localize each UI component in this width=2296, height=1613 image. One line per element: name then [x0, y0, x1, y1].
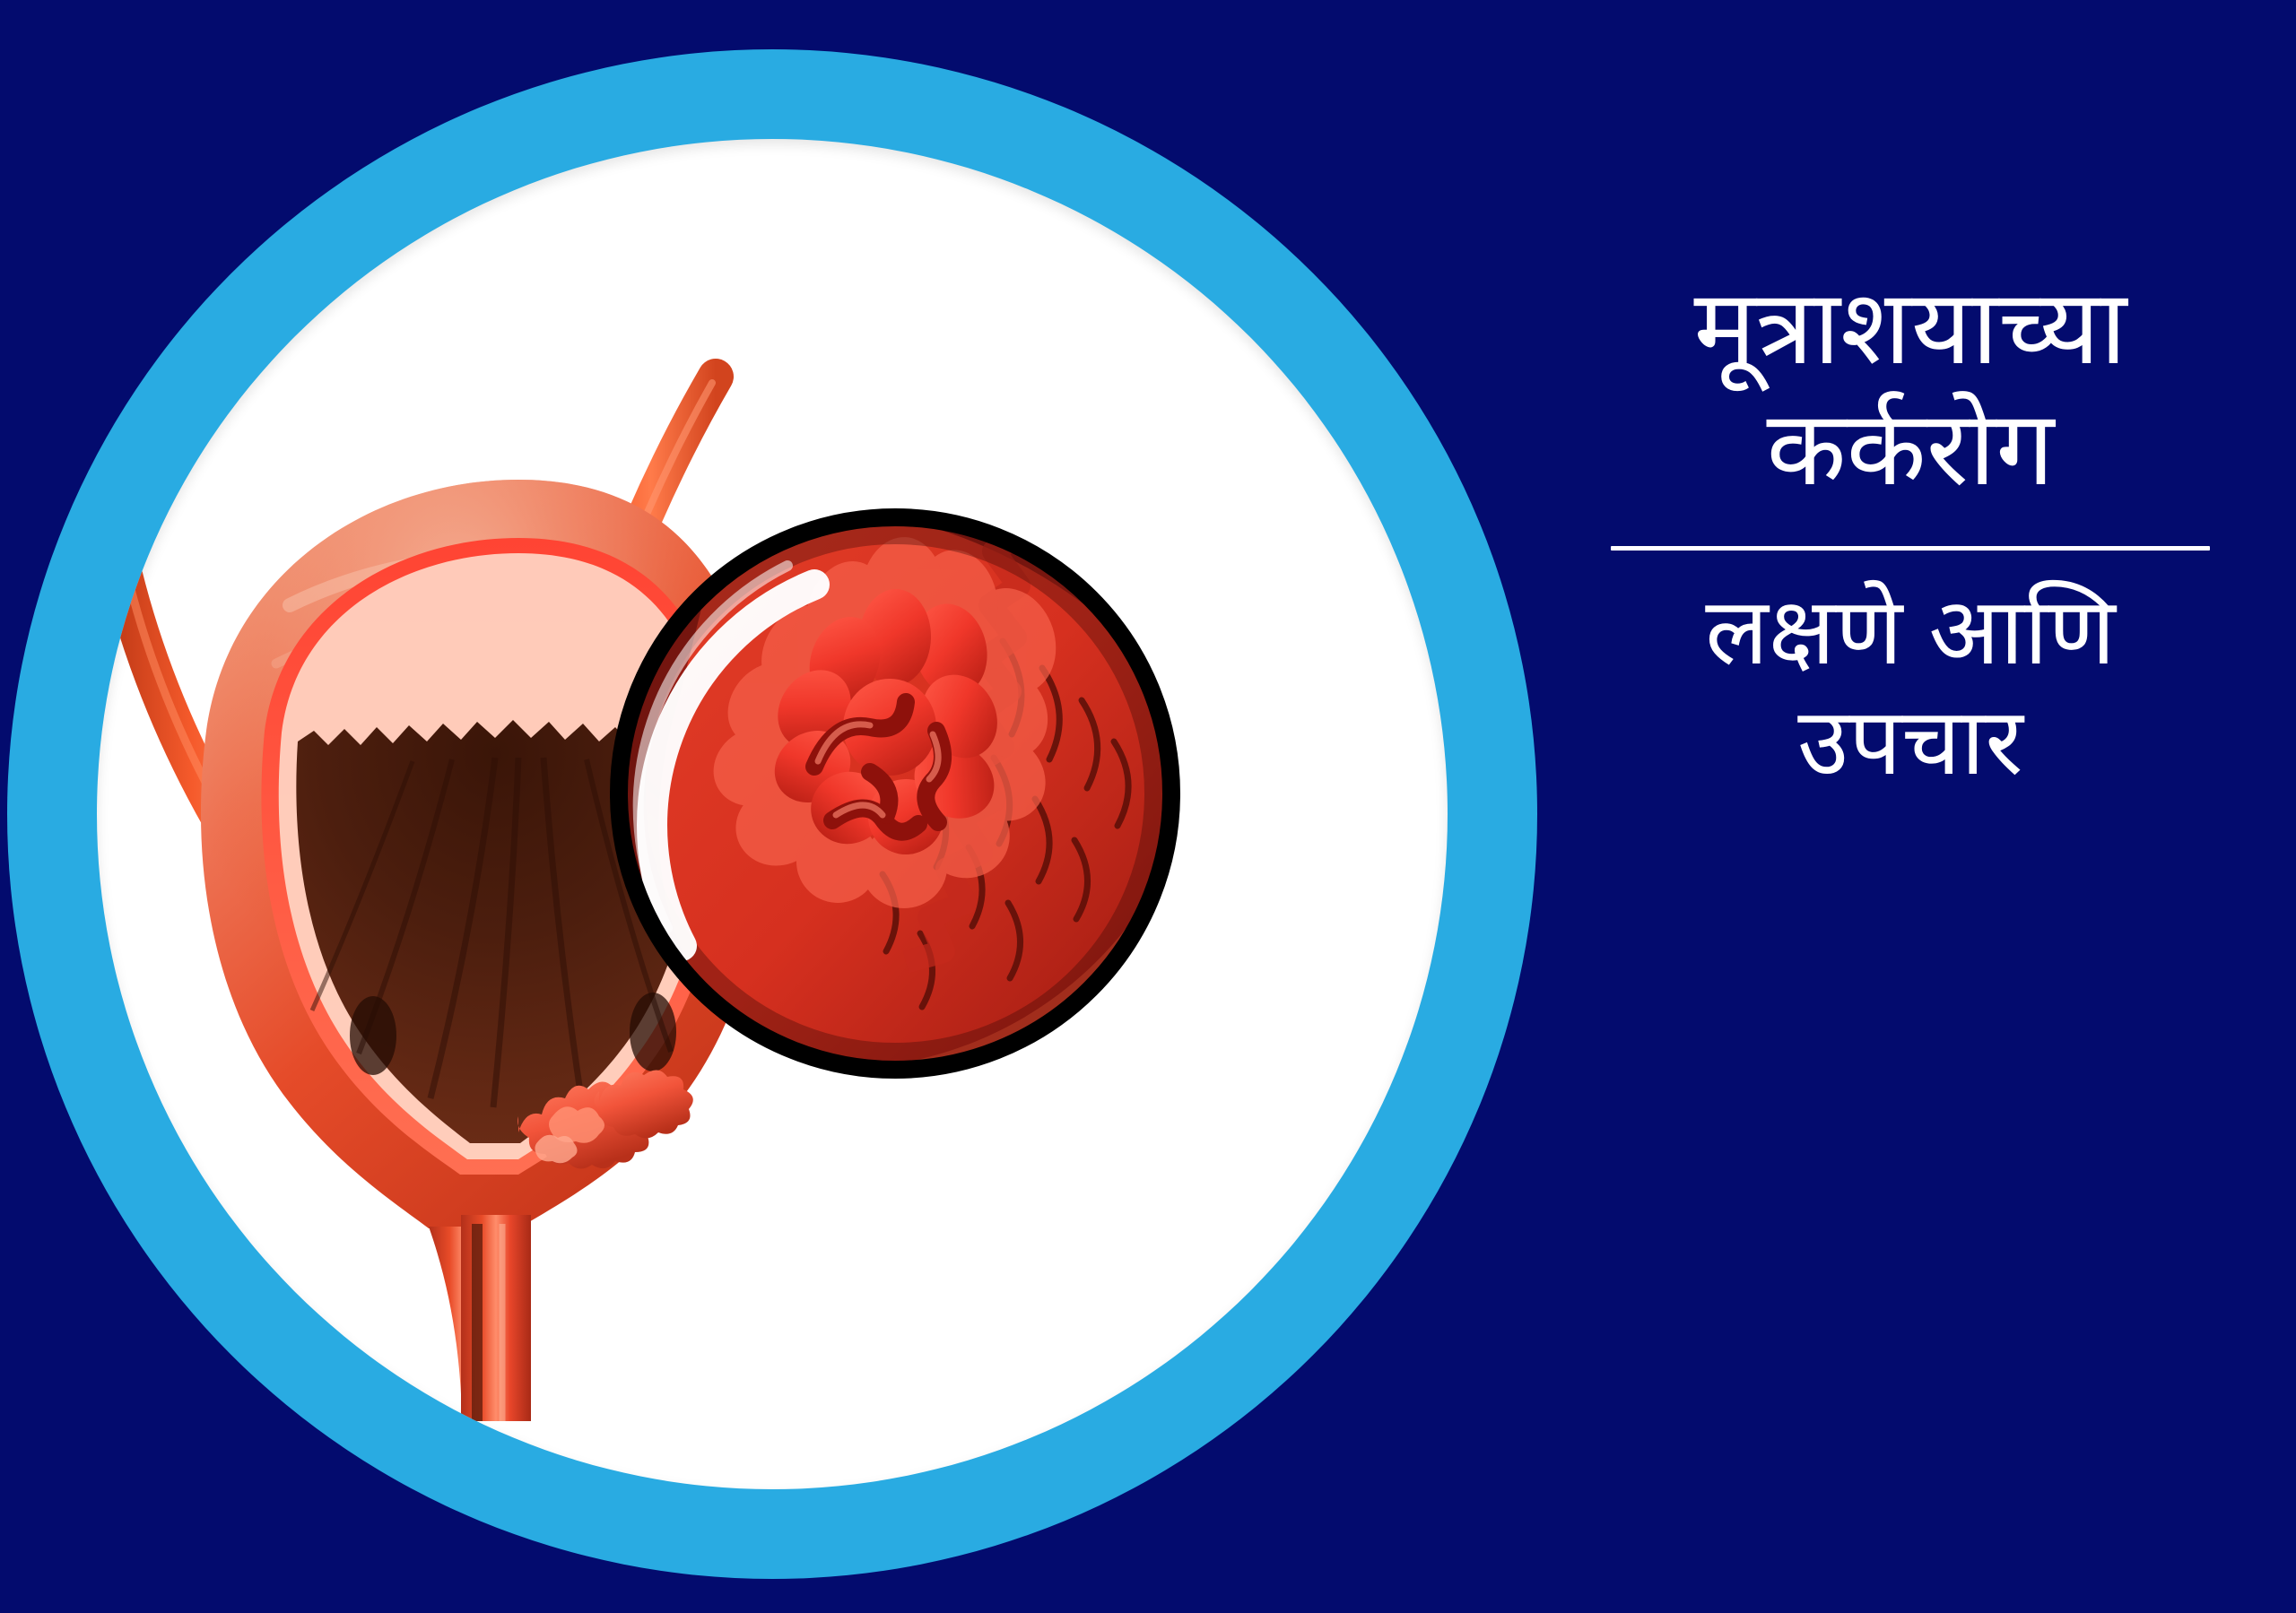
headline-group: मूत्राशयाच्या कर्करोग: [1525, 267, 2296, 508]
headline-line-1: मूत्राशयाच्या: [1694, 267, 2127, 388]
subheadline-group: लक्षणे आणि उपचार: [1525, 577, 2296, 797]
poster-canvas: मूत्राशयाच्या कर्करोग लक्षणे आणि उपचार: [0, 0, 2296, 1613]
headline-divider: [1611, 546, 2210, 551]
subheadline-line-1: लक्षणे आणि: [1705, 577, 2116, 688]
headline-line-2: कर्करोग: [1767, 388, 2055, 509]
bladder-cancer-illustration: [97, 139, 1448, 1489]
headline-panel: मूत्राशयाच्या कर्करोग लक्षणे आणि उपचार: [1525, 161, 2296, 1022]
subheadline-line-2: उपचार: [1797, 688, 2023, 798]
